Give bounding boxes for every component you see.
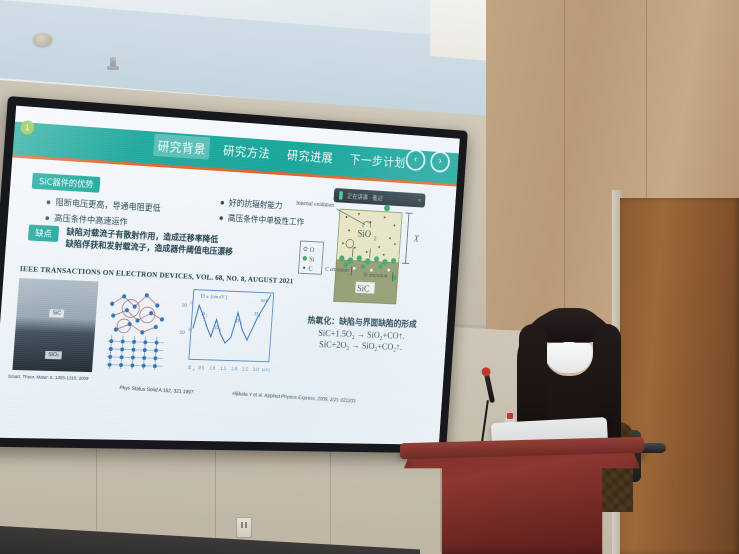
svg-text:10: 10 <box>188 328 192 332</box>
svg-text:[eV]: [eV] <box>262 367 270 372</box>
svg-text:4: 4 <box>258 314 260 318</box>
advantages-block: SiC器件的优势 阻断电压更高，导通电阻更低 高压条件中高速运作 <box>29 173 163 234</box>
display-screen[interactable]: 1 研究背景 研究方法 研究进展 下一步计划 ‹ › 正在讲演 · 墨迹 « <box>0 106 460 445</box>
svg-text:2.5: 2.5 <box>242 368 248 373</box>
oxidation-diagram: SiO 2 SiC X Surface oxidation Internal o… <box>283 181 446 316</box>
svg-text:O: O <box>310 246 315 254</box>
tem-label-sio2: SiO₂ <box>45 351 62 359</box>
svg-text:3: 3 <box>240 321 242 325</box>
svg-text:D: D <box>215 325 219 331</box>
svg-text:2.0: 2.0 <box>231 367 237 372</box>
svg-text:D: D <box>235 318 239 324</box>
svg-text:D: D <box>201 294 206 300</box>
wall-outlet <box>236 517 252 538</box>
citation-dos: Hijikata Y et al. Applied Physics Expres… <box>232 391 356 404</box>
disadvantages-pill: 缺点 <box>28 224 59 241</box>
tab-research-method[interactable]: 研究方法 <box>219 138 275 164</box>
disadvantages-lines: 缺陷对载流子有散射作用，造成迁移率降低 缺陷俘获和发射载流子，造成器件阈值电压漂… <box>65 227 234 260</box>
door[interactable] <box>620 198 739 554</box>
svg-text:v: v <box>193 368 195 372</box>
svg-text:1.5: 1.5 <box>220 367 227 372</box>
tem-label-sic: SiC <box>49 309 64 317</box>
svg-text:Si: Si <box>309 256 315 264</box>
svg-text:3.0: 3.0 <box>253 368 259 373</box>
svg-text:11: 11 <box>190 301 194 305</box>
next-slide-icon[interactable]: › <box>430 150 451 173</box>
equations-block: 热氧化：缺陷与界面缺陷的形成 SiC+1.5O₂ → SiO₂+CO↑. SiC… <box>277 312 444 356</box>
smoke-detector-icon <box>33 33 52 46</box>
svg-text:E: E <box>188 365 191 371</box>
wall-display[interactable]: 1 研究背景 研究方法 研究进展 下一步计划 ‹ › 正在讲演 · 墨迹 « <box>0 96 468 453</box>
svg-text:SiO: SiO <box>357 229 371 240</box>
citation-tem: Smart, Theor. Mater. 6, 1305-1310, 2009 <box>8 374 89 381</box>
sprinkler-head-icon <box>110 57 116 69</box>
svg-text:SiC: SiC <box>357 284 370 294</box>
svg-text:[cm eV ]: [cm eV ] <box>211 295 228 301</box>
face-mask <box>545 340 593 373</box>
svg-text:D: D <box>201 311 205 317</box>
svg-text:C: C <box>308 265 313 273</box>
svg-text:X: X <box>413 234 420 244</box>
presentation-slide: 1 研究背景 研究方法 研究进展 下一步计划 ‹ › 正在讲演 · 墨迹 « <box>0 106 460 445</box>
svg-text:C emission: C emission <box>325 267 349 274</box>
svg-text:10: 10 <box>179 330 185 336</box>
svg-text:1: 1 <box>206 314 208 318</box>
tab-research-background[interactable]: 研究背景 <box>153 134 210 160</box>
tab-next-plan[interactable]: 下一步计划 <box>345 147 409 173</box>
citation-lattice: Phys Status Solid A 162, 321 1997. <box>119 385 195 395</box>
scene: 1 研究背景 研究方法 研究进展 下一步计划 ‹ › 正在讲演 · 墨迹 « <box>0 0 739 554</box>
advantages-left-list: 阻断电压更高，导通电阻更低 高压条件中高速运作 <box>45 196 161 230</box>
svg-text:D: D <box>254 311 258 317</box>
svg-text:1.0: 1.0 <box>209 367 216 372</box>
svg-text:it: it <box>206 294 209 299</box>
list-item: 阻断电压更高，导通电阻更低 <box>46 196 161 214</box>
prev-slide-icon[interactable]: ‹ <box>405 149 426 172</box>
svg-text:Surface oxidation: Surface oxidation <box>375 193 412 202</box>
svg-text:Internal oxidation: Internal oxidation <box>296 201 334 209</box>
svg-text:NIT: NIT <box>260 298 267 303</box>
tab-research-progress[interactable]: 研究进展 <box>283 143 338 168</box>
tem-micrograph: SiC SiO₂ <box>12 278 98 372</box>
crystal-lattice-figure <box>98 286 176 375</box>
svg-text:2: 2 <box>219 328 221 332</box>
svg-text:0.5: 0.5 <box>198 366 205 371</box>
svg-text:Si emission: Si emission <box>363 273 387 280</box>
dos-chart: D it [cm eV ] 10 11 10 10 D 1 D 2 D 3 <box>175 285 278 377</box>
svg-text:10: 10 <box>181 303 187 309</box>
slide-nav-arrows: ‹ › <box>405 149 450 173</box>
advantages-pill: SiC器件的优势 <box>32 173 101 193</box>
svg-text:2: 2 <box>373 235 376 242</box>
disadvantages-block: 缺点 缺陷对载流子有散射作用，造成迁移率降低 缺陷俘获和发射载流子，造成器件阈值… <box>27 224 234 259</box>
